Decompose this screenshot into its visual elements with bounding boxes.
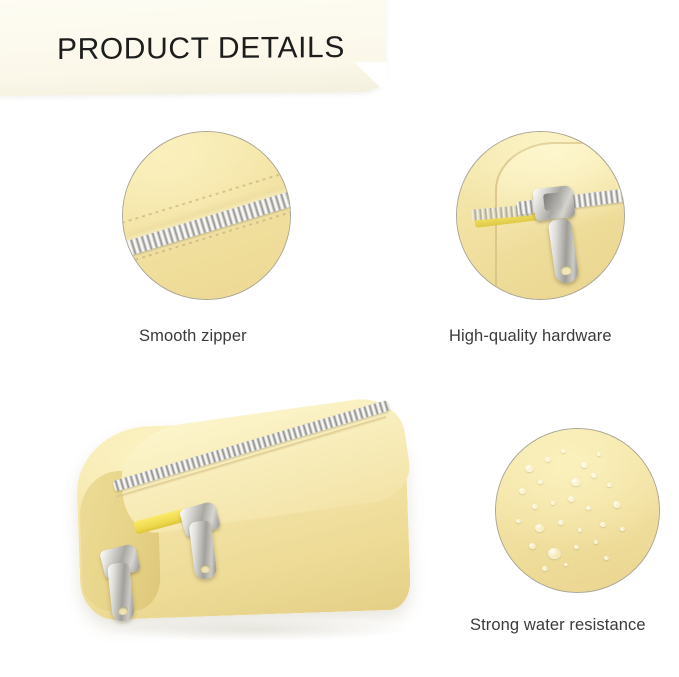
pouch-illustration	[78, 397, 418, 625]
water-droplet-icon	[538, 480, 543, 484]
product-details-page: PRODUCT DETAILS Smooth zipper High-quali…	[0, 0, 679, 677]
water-droplet-icon	[586, 506, 591, 510]
water-droplet-icon	[620, 527, 625, 531]
water-droplet-icon	[535, 524, 544, 532]
water-droplet-icon	[581, 462, 588, 468]
water-droplet-icon	[594, 540, 598, 544]
water-droplet-icon	[597, 452, 601, 456]
zipper-slider-icon	[532, 185, 575, 221]
water-droplet-icon	[529, 543, 536, 549]
water-droplet-icon	[604, 556, 609, 560]
water-droplet-icon	[591, 473, 597, 478]
fabric-texture	[496, 429, 659, 592]
main-product-photo	[62, 385, 434, 653]
water-droplet-icon	[516, 519, 521, 523]
drop-shadow	[104, 619, 404, 641]
detail-circle-smooth-zipper	[122, 131, 291, 300]
caption-high-quality-hardware: High-quality hardware	[449, 327, 612, 346]
water-droplet-icon	[532, 504, 538, 509]
detail-circle-strong-water-resistance	[495, 428, 660, 593]
water-droplet-icon	[519, 488, 526, 494]
water-droplet-icon	[607, 483, 612, 487]
water-droplet-icon	[571, 478, 581, 486]
water-droplet-icon	[542, 566, 548, 571]
water-droplet-icon	[574, 545, 579, 549]
water-droplet-icon	[568, 496, 575, 502]
page-title: PRODUCT DETAILS	[57, 31, 345, 67]
caption-strong-water-resistance: Strong water resistance	[470, 616, 646, 635]
detail-circle-high-quality-hardware	[456, 131, 625, 300]
water-droplet-icon	[545, 457, 551, 462]
water-droplet-icon	[561, 449, 566, 453]
caption-smooth-zipper: Smooth zipper	[139, 327, 247, 346]
